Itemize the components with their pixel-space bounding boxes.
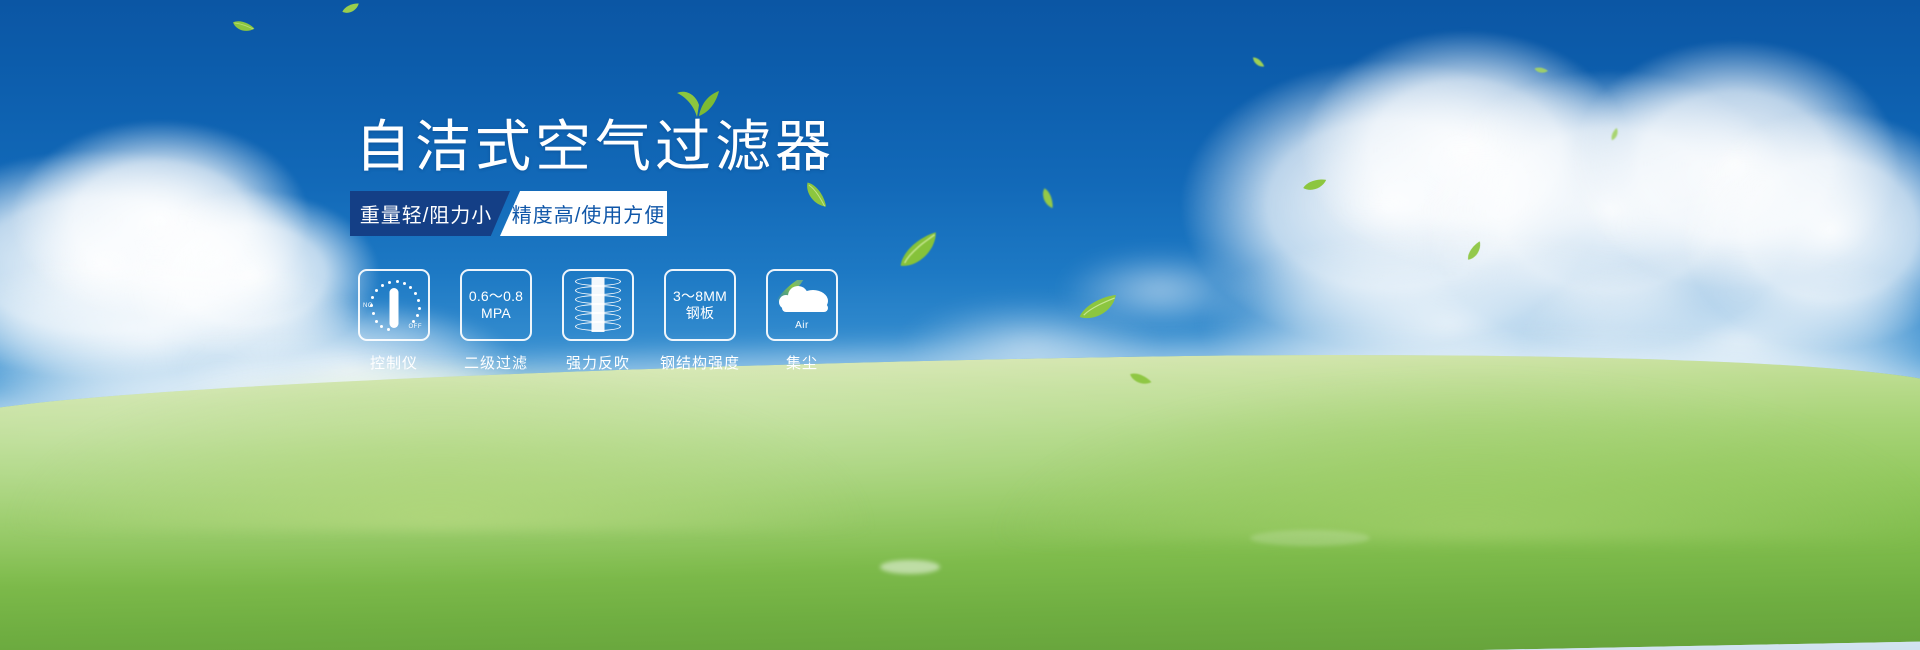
control-gauge-icon: NO OFF <box>364 276 424 334</box>
filter-coil-icon <box>575 277 621 333</box>
feature-box-control: NO OFF <box>358 269 430 341</box>
feature-item-dust[interactable]: Air 集尘 <box>766 269 838 373</box>
feature-icon-row: NO OFF 控制仪 0.6～0.8 MPA 二级过滤 <box>358 269 838 373</box>
steel-plate-text-icon: 3～8MM 钢板 <box>673 288 727 323</box>
steel-thickness: 3～8MM <box>673 288 727 306</box>
feature-caption-dust: 集尘 <box>786 352 818 373</box>
feature-caption-filtration: 二级过滤 <box>464 352 528 373</box>
feature-badges: 重量轻/阻力小 精度高/使用方便 <box>350 191 667 236</box>
air-cloud-icon: Air <box>773 280 831 330</box>
banner-content: 自洁式空气过滤器 重量轻/阻力小 精度高/使用方便 <box>0 0 1920 650</box>
gauge-label-off: OFF <box>409 324 423 330</box>
gauge-needle <box>390 288 399 328</box>
page-title: 自洁式空气过滤器 <box>355 118 835 177</box>
pressure-text-icon: 0.6～0.8 MPA <box>469 288 523 323</box>
feature-item-steel[interactable]: 3～8MM 钢板 钢结构强度 <box>664 269 736 373</box>
feature-box-pressure: 0.6～0.8 MPA <box>460 269 532 341</box>
badge-weight-resistance[interactable]: 重量轻/阻力小 <box>350 191 510 236</box>
feature-item-blowback[interactable]: 强力反吹 <box>562 269 634 373</box>
feature-item-pressure[interactable]: 0.6～0.8 MPA 二级过滤 <box>460 269 532 373</box>
feature-caption-control: 控制仪 <box>370 352 418 373</box>
product-hero-banner: 自洁式空气过滤器 重量轻/阻力小 精度高/使用方便 <box>0 0 1920 650</box>
feature-item-control[interactable]: NO OFF 控制仪 <box>358 269 430 373</box>
feature-box-dust: Air <box>766 269 838 341</box>
feature-box-steel: 3～8MM 钢板 <box>664 269 736 341</box>
feature-box-blowback <box>562 269 634 341</box>
air-label: Air <box>773 320 831 331</box>
feature-caption-steel: 钢结构强度 <box>660 352 740 373</box>
title-leaf-icon <box>676 88 720 123</box>
badge-precision-convenience[interactable]: 精度高/使用方便 <box>500 191 667 236</box>
pressure-value: 0.6～0.8 <box>469 288 523 306</box>
steel-material: 钢板 <box>673 305 727 323</box>
pressure-unit: MPA <box>469 305 523 323</box>
gauge-label-no: NO <box>363 303 373 309</box>
feature-caption-blowback: 强力反吹 <box>566 352 630 373</box>
